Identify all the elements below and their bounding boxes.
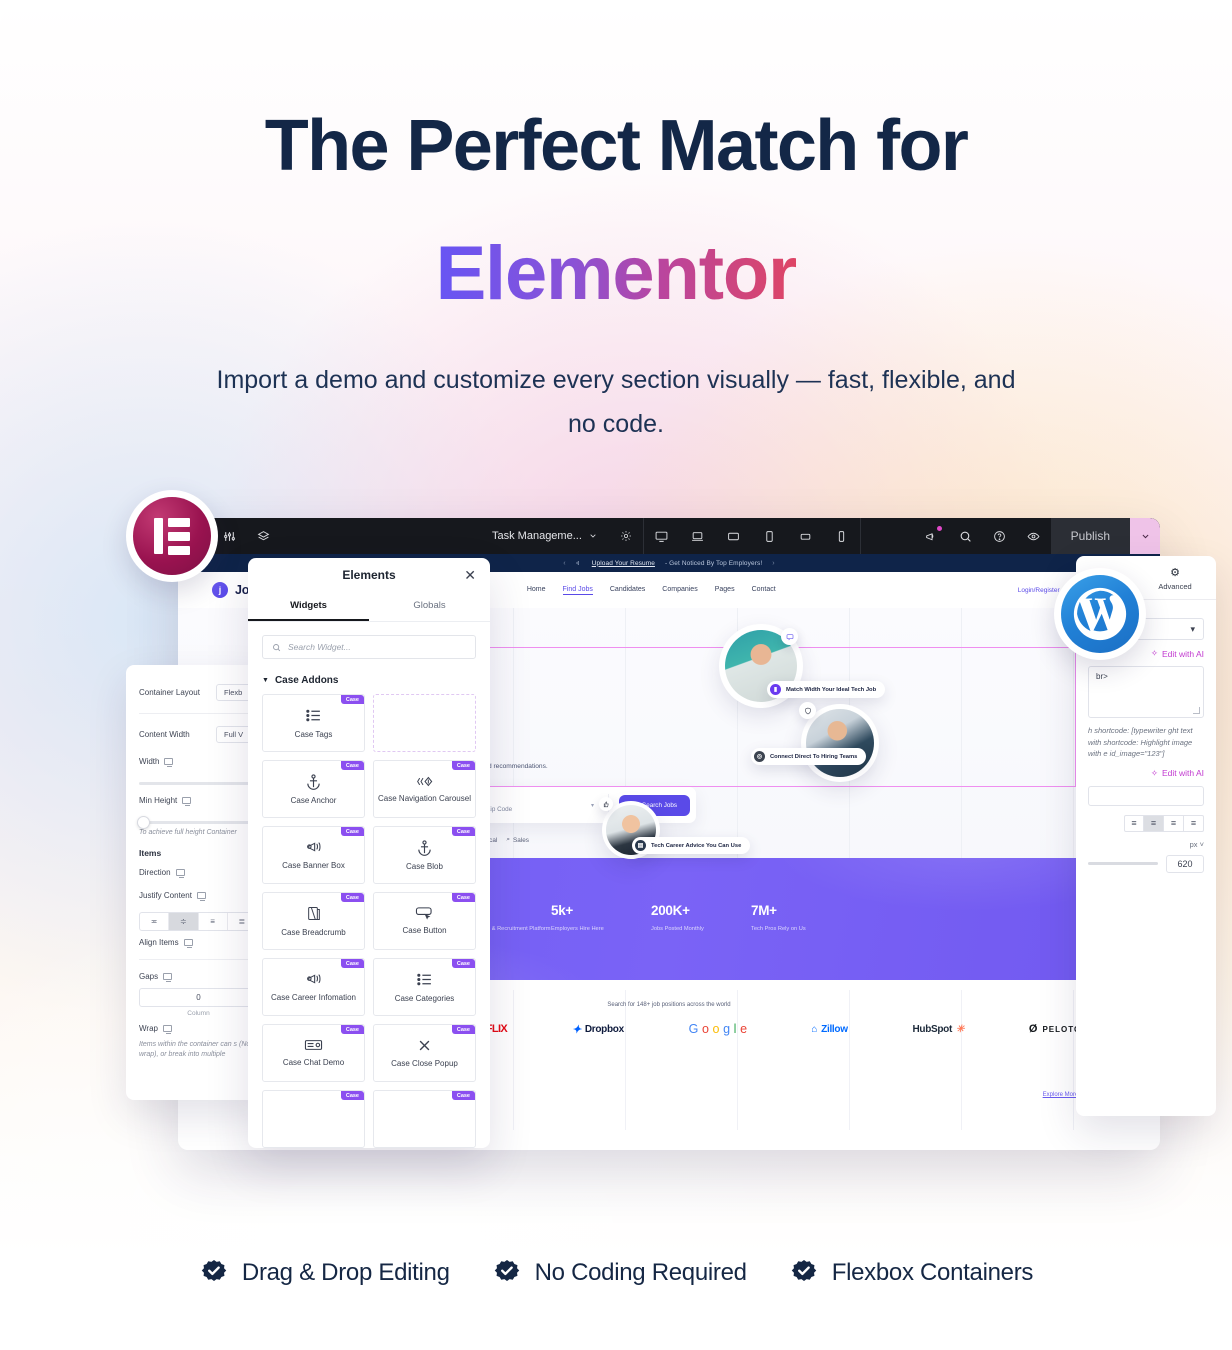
float-card-2: ◎ Connect Direct To Hiring Teams xyxy=(801,704,879,782)
monitor-icon[interactable] xyxy=(164,758,173,765)
desktop-icon[interactable] xyxy=(644,518,680,554)
logo-label: Zillow xyxy=(821,1024,848,1035)
chevron-down-icon xyxy=(589,532,597,540)
gaps-column-label: Column xyxy=(139,1010,258,1017)
setting-label: Gaps xyxy=(139,972,172,981)
monitor-icon[interactable] xyxy=(182,797,191,804)
feature-label: No Coding Required xyxy=(535,1259,747,1287)
tablet-landscape-icon[interactable] xyxy=(716,518,752,554)
pages-icon xyxy=(306,905,322,922)
unit-selector[interactable]: px ˅ xyxy=(1088,840,1204,849)
monitor-icon[interactable] xyxy=(184,939,193,946)
announcement-next[interactable]: › xyxy=(772,560,774,567)
shield-icon xyxy=(799,702,816,719)
explore-more-label: Explore More xyxy=(1043,1092,1079,1098)
gear-icon: ⚙ xyxy=(1170,566,1180,579)
topbar-right-group: Publish xyxy=(915,518,1160,554)
caret-down-icon: ▼ xyxy=(262,677,269,684)
nav-item-candidates[interactable]: Candidates xyxy=(610,586,645,595)
widget-case-close-popup[interactable]: Case Case Close Popup xyxy=(373,1024,476,1082)
stat-value: 5k+ xyxy=(551,903,651,918)
logo-google: Google xyxy=(689,1022,747,1036)
widget-tag: Case xyxy=(452,893,475,902)
help-icon[interactable] xyxy=(983,518,1017,554)
slider-handle[interactable] xyxy=(137,816,150,829)
nav-item-find-jobs[interactable]: Find Jobs xyxy=(563,586,593,595)
peloton-mark-icon: Ø xyxy=(1029,1023,1039,1035)
monitor-icon[interactable] xyxy=(176,869,185,876)
check-badge-icon xyxy=(199,1258,229,1288)
widget-tag: Case xyxy=(341,827,364,836)
float-card-1: ▮ Match Width Your Ideal Tech Job xyxy=(719,624,803,708)
setting-label: Direction xyxy=(139,868,185,877)
min-height-slider[interactable] xyxy=(139,821,258,824)
check-badge-icon xyxy=(789,1258,819,1288)
stat-item-3: 200K+ Jobs Posted Monthly xyxy=(651,903,751,934)
widget-name: Case Career Infomation xyxy=(268,993,359,1003)
widget-case-career-infomation[interactable]: Case Case Career Infomation xyxy=(262,958,365,1016)
widget-name: Case Categories xyxy=(392,994,458,1004)
search-widget-input[interactable]: Search Widget... xyxy=(262,635,476,659)
chevron-down-icon: ˅ xyxy=(1200,840,1204,849)
stat-caption: Jobs Posted Monthly xyxy=(651,924,751,934)
align-right-icon[interactable]: ≡ xyxy=(1164,815,1184,832)
thumbs-up-icon xyxy=(599,797,613,811)
popular-tag-sales[interactable]: ⌕Sales xyxy=(506,836,529,844)
float-card-3-label: Tech Career Advice You Can Use xyxy=(651,843,741,849)
setting-label: Container Layout xyxy=(139,688,200,697)
widget-partial-13[interactable]: Case xyxy=(262,1090,365,1148)
float-card-3: ▤ Tech Career Advice You Can Use xyxy=(602,801,660,859)
gaps-label: Gaps xyxy=(139,972,158,981)
logo-dropbox: ✦Dropbox xyxy=(572,1023,624,1036)
justify-content-segment: ≖ ≑ ≡ ≣ xyxy=(139,912,258,931)
widget-partial-14[interactable]: Case xyxy=(373,1090,476,1148)
setting-width: Width xyxy=(139,750,258,773)
widget-case-navigation-carousel[interactable]: Case Case Navigation Carousel xyxy=(373,760,476,818)
logo-zillow: ⌂Zillow xyxy=(811,1024,847,1035)
search-icon: ⌕ xyxy=(506,836,510,844)
topbar-document-group: Task Manageme... xyxy=(480,518,643,554)
widget-case-tags[interactable]: Case Case Tags xyxy=(262,694,365,752)
wordpress-logo-icon xyxy=(1061,575,1139,653)
chevron-down-icon[interactable]: ▾ xyxy=(591,802,594,809)
widget-name: Case Blob xyxy=(403,862,446,872)
anchor-icon xyxy=(305,773,322,790)
stat-item-4: 7M+ Tech Pros Rely on Us xyxy=(751,903,851,934)
widget-tag: Case xyxy=(341,761,364,770)
hero-subtitle: Import a demo and customize every sectio… xyxy=(206,359,1026,447)
feature-flexbox-containers: Flexbox Containers xyxy=(789,1258,1033,1288)
gear-icon[interactable] xyxy=(609,518,643,554)
hero-section: The Perfect Match for Elementor Import a… xyxy=(0,0,1232,447)
width-range-slider[interactable] xyxy=(1088,862,1158,865)
briefcase-icon: ▮ xyxy=(770,684,781,695)
megaphone-icon xyxy=(305,971,323,987)
sparkle-icon: ✧ xyxy=(1151,648,1158,659)
widget-tag: Case xyxy=(341,893,364,902)
widget-grid: Case Case Tags Case Case Anchor Case Cas… xyxy=(248,694,490,1148)
widget-name: Case Close Popup xyxy=(388,1059,461,1069)
megaphone-icon xyxy=(305,839,323,855)
tag-label: Sales xyxy=(513,837,529,844)
wordpress-logo-badge xyxy=(1054,568,1146,660)
widget-name: Case Button xyxy=(399,926,449,936)
tablet-portrait-icon[interactable] xyxy=(752,518,788,554)
align-start-icon[interactable]: ≖ xyxy=(140,913,169,930)
setting-label: Wrap xyxy=(139,1024,172,1033)
unit-label: px xyxy=(1190,840,1198,849)
setting-container-layout[interactable]: Container Layout Flexb xyxy=(139,677,258,708)
stat-caption: Employers Hire Here xyxy=(551,924,651,934)
monitor-icon[interactable] xyxy=(163,1025,172,1032)
chat-card-icon xyxy=(304,1038,323,1052)
align-justify-icon[interactable]: ≡ xyxy=(1184,815,1204,832)
features-row: Drag & Drop Editing No Coding Required F… xyxy=(0,1258,1232,1288)
device-preview-group xyxy=(644,518,860,554)
alignment-control: ≡ ≡ ≡ ≡ xyxy=(1088,815,1204,832)
speaker-icon xyxy=(576,560,582,566)
elements-panel-title: Elements xyxy=(342,568,395,582)
wrap-label: Wrap xyxy=(139,1024,158,1033)
feature-drag-drop-editing: Drag & Drop Editing xyxy=(199,1258,450,1288)
laptop-icon[interactable] xyxy=(680,518,716,554)
announcement-text: - Get Noticed By Top Employers! xyxy=(665,560,762,567)
setting-label: Min Height xyxy=(139,796,191,805)
float-card-1-label: Match Width Your Ideal Tech Job xyxy=(786,687,876,693)
promo-page: The Perfect Match for Elementor Import a… xyxy=(0,0,1232,1350)
float-card-2-label-wrap: ◎ Connect Direct To Hiring Teams xyxy=(751,748,866,765)
widget-tag: Case xyxy=(341,1025,364,1034)
elementor-logo-badge xyxy=(126,490,218,582)
setting-align-items: Align Items xyxy=(139,931,258,954)
chat-icon xyxy=(781,628,798,645)
announcement-prev[interactable]: ‹ xyxy=(563,560,565,567)
float-card-3-label-wrap: ▤ Tech Career Advice You Can Use xyxy=(632,837,750,854)
widget-case-banner-box[interactable]: Case Case Banner Box xyxy=(262,826,365,884)
setting-label: Justify Content xyxy=(139,891,206,900)
tab-advanced-label: Advanced xyxy=(1158,582,1191,591)
chevron-down-icon: ▾ xyxy=(1190,624,1195,635)
widget-name: Case Banner Box xyxy=(279,861,348,871)
feature-label: Flexbox Containers xyxy=(832,1259,1033,1287)
carousel-arrows-icon xyxy=(415,775,435,788)
editor-mockup: + Task Manageme... xyxy=(126,490,1116,1155)
content-textarea[interactable]: br> xyxy=(1088,666,1204,718)
list-icon xyxy=(305,707,322,724)
shortcode-help-text: h shortcode: [typewriter ght text with s… xyxy=(1088,725,1204,760)
widget-name: Case Tags xyxy=(292,730,336,740)
feature-label: Drag & Drop Editing xyxy=(242,1259,450,1287)
megaphone-icon[interactable] xyxy=(915,518,949,554)
stat-item-2: 5k+ Employers Hire Here xyxy=(551,903,651,934)
document-title: Task Manageme... xyxy=(492,530,582,542)
float-card-2-label: Connect Direct To Hiring Teams xyxy=(770,754,857,760)
align-left-icon[interactable]: ≡ xyxy=(1124,815,1144,832)
setting-direction: Direction xyxy=(139,861,258,884)
widget-drop-placeholder[interactable] xyxy=(373,694,476,752)
hubspot-mark-icon: ✳ xyxy=(956,1024,964,1035)
preview-eye-icon[interactable] xyxy=(1017,518,1051,554)
align-end-icon[interactable]: ≡ xyxy=(199,913,228,930)
feature-no-coding-required: No Coding Required xyxy=(492,1258,747,1288)
widget-name: Case Chat Demo xyxy=(280,1058,347,1068)
tab-widgets[interactable]: Widgets xyxy=(248,592,369,621)
widget-section-case-addons[interactable]: ▼ Case Addons xyxy=(262,675,476,686)
anchor-icon xyxy=(416,839,433,856)
widget-case-anchor[interactable]: Case Case Anchor xyxy=(262,760,365,818)
align-items-label: Align Items xyxy=(139,938,179,947)
setting-label: Content Width xyxy=(139,730,190,739)
setting-label: Align Items xyxy=(139,938,193,947)
wrap-note: Items within the container can s (No wra… xyxy=(139,1040,258,1061)
widget-tag: Case xyxy=(452,1091,475,1100)
tab-globals[interactable]: Globals xyxy=(369,592,490,621)
edit-with-ai-label: Edit with AI xyxy=(1162,768,1204,778)
nav-item-pages[interactable]: Pages xyxy=(715,586,735,595)
stat-value: 200K+ xyxy=(651,903,751,918)
sparkle-icon: ✧ xyxy=(1151,768,1158,779)
min-height-label: Min Height xyxy=(139,796,177,805)
widget-tag: Case xyxy=(452,827,475,836)
widget-section-label: Case Addons xyxy=(275,675,339,686)
stat-value: 7M+ xyxy=(751,903,851,918)
close-icon xyxy=(417,1038,432,1053)
widget-name: Case Anchor xyxy=(288,796,340,806)
setting-content-width[interactable]: Content Width Full V xyxy=(139,719,258,750)
nav-item-contact[interactable]: Contact xyxy=(752,586,776,595)
elements-panel-tabs: Widgets Globals xyxy=(248,592,490,622)
align-center-icon[interactable]: ≡ xyxy=(1144,815,1164,832)
widget-tag: Case xyxy=(452,1025,475,1034)
setting-justify-content: Justify Content xyxy=(139,884,258,907)
widget-tag: Case xyxy=(341,959,364,968)
widget-tag: Case xyxy=(341,1091,364,1100)
list-icon xyxy=(416,971,433,988)
mobile-landscape-icon[interactable] xyxy=(788,518,824,554)
widget-name: Case Navigation Carousel xyxy=(375,794,474,804)
check-badge-icon xyxy=(492,1258,522,1288)
min-height-note: To achieve full height Container xyxy=(139,828,258,839)
widget-case-categories[interactable]: Case Case Categories xyxy=(373,958,476,1016)
monitor-icon[interactable] xyxy=(163,973,172,980)
target-icon: ◎ xyxy=(754,751,765,762)
search-icon xyxy=(272,643,281,652)
announcement-link[interactable]: Upload Your Resume xyxy=(592,560,655,567)
dropbox-mark-icon: ✦ xyxy=(572,1023,581,1036)
zillow-mark-icon: ⌂ xyxy=(811,1024,817,1035)
brand-title: Elementor xyxy=(436,230,797,317)
layers-icon[interactable] xyxy=(246,518,280,554)
logo-label: Dropbox xyxy=(585,1024,624,1035)
widget-tag: Case xyxy=(452,959,475,968)
page-title: The Perfect Match for xyxy=(0,108,1232,184)
site-menu: Home Find Jobs Candidates Companies Page… xyxy=(527,586,776,595)
login-register-link[interactable]: Login/Register xyxy=(1018,587,1060,594)
width-label: Width xyxy=(139,757,159,766)
width-range-row: 620 xyxy=(1088,855,1204,873)
setting-label: Width xyxy=(139,757,173,766)
widget-name: Case Breadcrumb xyxy=(278,928,348,938)
nav-item-home[interactable]: Home xyxy=(527,586,546,595)
elements-widgets-panel: Elements ✕ Widgets Globals Search Widget… xyxy=(248,558,490,1148)
setting-min-height: Min Height xyxy=(139,789,258,812)
search-icon[interactable] xyxy=(949,518,983,554)
widget-tag: Case xyxy=(341,695,364,704)
setting-wrap: Wrap xyxy=(139,1017,258,1040)
width-slider[interactable] xyxy=(139,782,258,785)
jobnetic-mark-icon: j xyxy=(212,582,228,598)
widget-case-blob[interactable]: Case Case Blob xyxy=(373,826,476,884)
direction-label: Direction xyxy=(139,868,171,877)
justify-label: Justify Content xyxy=(139,891,192,900)
widget-tag: Case xyxy=(452,761,475,770)
publish-button[interactable]: Publish xyxy=(1051,518,1130,554)
publish-options-caret-icon[interactable] xyxy=(1130,518,1160,554)
width-number-input[interactable]: 620 xyxy=(1166,855,1204,873)
editor-topbar: + Task Manageme... xyxy=(178,518,1160,554)
elementor-logo-icon xyxy=(133,497,211,575)
logo-hubspot: HubSpot✳ xyxy=(912,1024,964,1035)
stat-caption: Tech Pros Rely on Us xyxy=(751,924,851,934)
align-center-icon[interactable]: ≑ xyxy=(169,913,198,930)
edit-with-ai-button-2[interactable]: ✧ Edit with AI xyxy=(1088,768,1204,779)
nav-item-companies[interactable]: Companies xyxy=(662,586,697,595)
mobile-portrait-icon[interactable] xyxy=(824,518,860,554)
search-widget-placeholder: Search Widget... xyxy=(288,642,351,652)
setting-gaps: Gaps xyxy=(139,965,258,988)
tab-advanced[interactable]: ⚙ Advanced xyxy=(1146,566,1204,591)
edit-with-ai-label: Edit with AI xyxy=(1162,649,1204,659)
widget-case-breadcrumb[interactable]: Case Case Breadcrumb xyxy=(262,892,365,950)
button-cursor-icon xyxy=(415,906,434,920)
items-heading: Items xyxy=(139,839,258,861)
widget-case-button[interactable]: Case Case Button xyxy=(373,892,476,950)
gaps-column-input[interactable]: 0 xyxy=(139,988,258,1007)
elements-panel-header: Elements ✕ xyxy=(248,558,490,592)
float-card-1-label-wrap: ▮ Match Width Your Ideal Tech Job xyxy=(767,681,885,698)
text-input-field[interactable] xyxy=(1088,786,1204,806)
widget-case-chat-demo[interactable]: Case Case Chat Demo xyxy=(262,1024,365,1082)
book-icon: ▤ xyxy=(635,840,646,851)
document-title-dropdown[interactable]: Task Manageme... xyxy=(480,530,609,542)
logo-label: HubSpot xyxy=(912,1024,952,1035)
close-icon[interactable]: ✕ xyxy=(464,567,476,584)
monitor-icon[interactable] xyxy=(197,892,206,899)
